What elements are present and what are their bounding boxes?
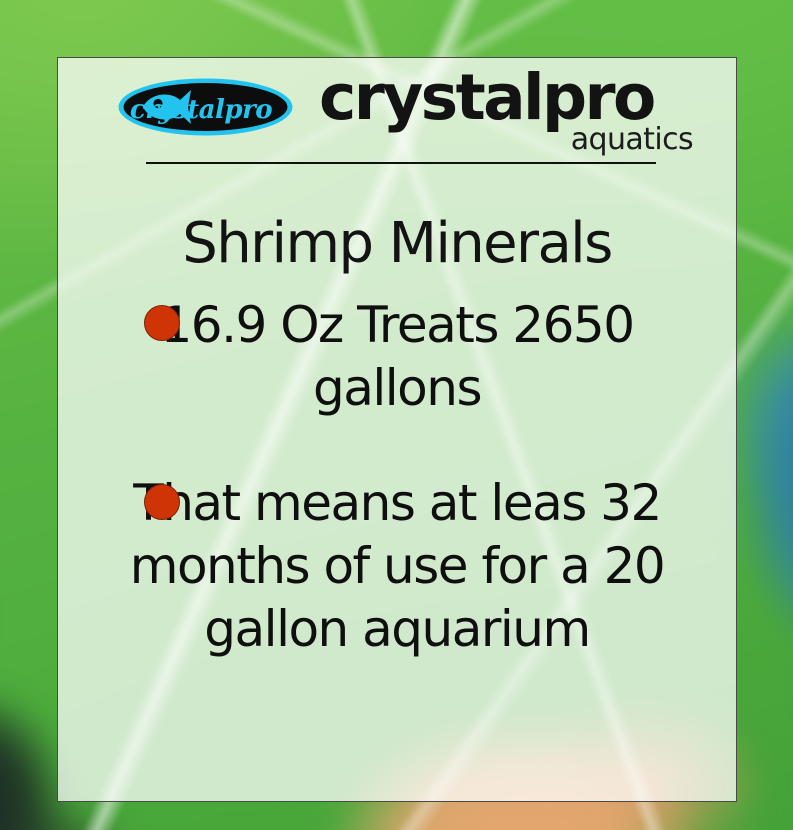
product-title: Shrimp Minerals	[58, 213, 736, 275]
bullet-item-duration-of-use: That means at leas 32 months of use for …	[58, 472, 736, 661]
bullet-dot-icon	[144, 305, 180, 341]
wordmark-secondary: aquatics	[571, 125, 693, 155]
bullet-item-volume-coverage: 16.9 Oz Treats 2650 gallons	[58, 294, 736, 420]
bullet-dot-icon	[144, 484, 180, 520]
header-divider	[146, 162, 656, 164]
logo-badge: crystalpro	[117, 77, 294, 137]
product-infographic: crystalpro crystalpro aquatics Shrimp Mi…	[0, 0, 793, 830]
content-panel: crystalpro crystalpro aquatics Shrimp Mi…	[57, 57, 737, 802]
feature-bullet-list: 16.9 Oz Treats 2650 gallons That means a…	[58, 294, 736, 661]
brand-wordmark: crystalpro aquatics	[319, 64, 699, 164]
svg-text:crystalpro: crystalpro	[130, 95, 272, 125]
wordmark-primary: crystalpro	[319, 66, 654, 129]
brand-header: crystalpro crystalpro aquatics	[58, 58, 736, 163]
